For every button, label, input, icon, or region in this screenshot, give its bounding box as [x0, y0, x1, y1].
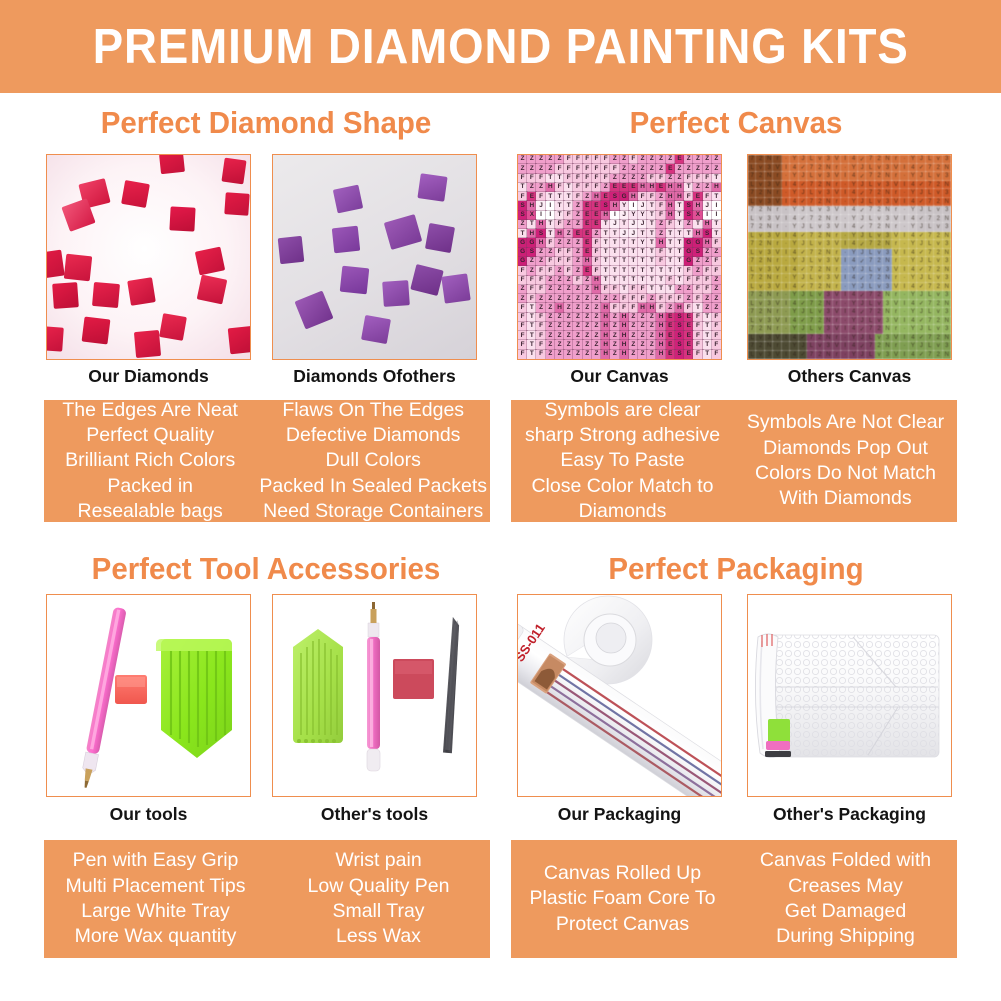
- canvas-cell: Z: [555, 313, 564, 322]
- canvas-cell: T: [620, 220, 629, 229]
- canvas-cell: 7: [748, 342, 756, 351]
- canvas-cell: Y: [849, 351, 857, 360]
- canvas-cell: T: [656, 266, 665, 275]
- canvas-cell: ·: [782, 257, 790, 266]
- canvas-cell: r: [773, 240, 781, 249]
- canvas-cell: Z: [693, 266, 702, 275]
- canvas-cell: F: [564, 164, 573, 173]
- canvas-cell: r: [773, 189, 781, 198]
- canvas-cell: L: [866, 164, 874, 173]
- canvas-cell: J: [917, 206, 925, 215]
- canvas-cell: I: [841, 240, 849, 249]
- canvas-cell: Z: [629, 331, 638, 340]
- canvas-cell: J: [620, 211, 629, 220]
- canvas-cell: 4: [790, 198, 798, 207]
- canvas-cell: 3: [883, 232, 891, 241]
- panel-line: Less Wax: [336, 924, 421, 949]
- canvas-cell: T: [555, 174, 564, 183]
- canvas-cell: 7: [926, 249, 934, 258]
- canvas-cell: T: [620, 276, 629, 285]
- canvas-cell: 7: [807, 215, 815, 224]
- canvas-cell: 3: [824, 172, 832, 181]
- canvas-cell: J: [799, 325, 807, 334]
- canvas-cell: v: [756, 249, 764, 258]
- canvas-cell: J: [917, 189, 925, 198]
- canvas-cell: Y: [849, 198, 857, 207]
- caption-our-diamonds: Our Diamonds: [46, 366, 251, 387]
- canvas-cell: F: [573, 164, 582, 173]
- canvas-cell: ·: [782, 342, 790, 351]
- canvas-cell: L: [926, 257, 934, 266]
- canvas-cell: ·: [900, 189, 908, 198]
- canvas-cell: Z: [546, 276, 555, 285]
- canvas-cell: r: [773, 155, 781, 164]
- canvas-cell: Z: [573, 266, 582, 275]
- canvas-cell: H: [712, 183, 721, 192]
- canvas-cell: F: [610, 164, 619, 173]
- canvas-cell: T: [703, 331, 712, 340]
- canvas-cell: 4: [790, 181, 798, 190]
- canvas-cell: Z: [703, 183, 712, 192]
- canvas-cell: ✓: [799, 334, 807, 343]
- canvas-cell: F: [536, 331, 545, 340]
- canvas-cell: F: [518, 303, 527, 312]
- canvas-cell: 7: [748, 223, 756, 232]
- canvas-cell: F: [601, 285, 610, 294]
- canvas-cell: Z: [564, 313, 573, 322]
- canvas-cell: V: [833, 172, 841, 181]
- canvas-cell: 2: [756, 308, 764, 317]
- canvas-cell: Y: [790, 291, 798, 300]
- canvas-cell: J: [799, 240, 807, 249]
- canvas-cell: H: [666, 201, 675, 210]
- canvas-cell: I: [900, 351, 908, 360]
- red-diamonds-scatter: [47, 155, 250, 359]
- canvas-cell: Y: [909, 257, 917, 266]
- canvas-cell: J: [858, 181, 866, 190]
- canvas-cell: r: [833, 181, 841, 190]
- canvas-cell: T: [703, 350, 712, 359]
- canvas-cell: Z: [703, 257, 712, 266]
- canvas-cell: Z: [684, 220, 693, 229]
- canvas-cell: Y: [790, 172, 798, 181]
- canvas-cell: N: [824, 351, 832, 360]
- canvas-cell: V: [773, 266, 781, 275]
- canvas-cell: Y: [909, 223, 917, 232]
- canvas-cell: Z: [564, 276, 573, 285]
- photo-others-diamonds: [272, 154, 477, 360]
- canvas-cell: Z: [684, 155, 693, 164]
- panel-line: Canvas Rolled Up: [544, 861, 701, 886]
- canvas-cell: 2: [756, 291, 764, 300]
- canvas-cell: Z: [546, 303, 555, 312]
- canvas-cell: ✓: [917, 249, 925, 258]
- canvas-cell: Z: [583, 285, 592, 294]
- canvas-cell: V: [892, 198, 900, 207]
- canvas-cell: Z: [546, 294, 555, 303]
- canvas-cell: F: [583, 155, 592, 164]
- canvas-cell: ✓: [799, 215, 807, 224]
- canvas-cell: Z: [610, 350, 619, 359]
- canvas-cell: I: [900, 334, 908, 343]
- canvas-cell: Z: [536, 164, 545, 173]
- canvas-cell: Z: [703, 303, 712, 312]
- canvas-cell: Z: [536, 303, 545, 312]
- canvas-cell: F: [703, 192, 712, 201]
- canvas-cell: ·: [841, 181, 849, 190]
- canvas-cell: 2: [816, 283, 824, 292]
- canvas-cell: 7: [748, 240, 756, 249]
- canvas-cell: L: [926, 291, 934, 300]
- canvas-cell: Y: [620, 201, 629, 210]
- canvas-cell: H: [638, 303, 647, 312]
- canvas-cell: Z: [555, 155, 564, 164]
- canvas-cell: N: [765, 240, 773, 249]
- canvas-cell: F: [564, 211, 573, 220]
- canvas-cell: S: [703, 229, 712, 238]
- canvas-cell: Z: [712, 155, 721, 164]
- canvas-cell: F: [712, 322, 721, 331]
- canvas-cell: L: [748, 283, 756, 292]
- canvas-cell: 3: [883, 300, 891, 309]
- canvas-cell: H: [629, 192, 638, 201]
- canvas-cell: Y: [849, 215, 857, 224]
- canvas-cell: Z: [518, 164, 527, 173]
- canvas-cell: T: [666, 257, 675, 266]
- canvas-cell: T: [564, 183, 573, 192]
- canvas-cell: F: [573, 155, 582, 164]
- canvas-cell: F: [693, 276, 702, 285]
- canvas-cell: r: [892, 274, 900, 283]
- canvas-cell: S: [684, 211, 693, 220]
- canvas-cell: r: [773, 172, 781, 181]
- canvas-cell: r: [892, 325, 900, 334]
- canvas-cell: r: [892, 308, 900, 317]
- canvas-cell: v: [816, 308, 824, 317]
- panel-line: Packed in: [107, 474, 193, 499]
- canvas-cell: F: [712, 266, 721, 275]
- canvas-cell: r: [773, 206, 781, 215]
- canvas-cell: I: [629, 201, 638, 210]
- canvas-cell: Z: [573, 350, 582, 359]
- canvas-cell: 4: [909, 351, 917, 360]
- canvas-cell: E: [684, 340, 693, 349]
- canvas-cell: Z: [573, 248, 582, 257]
- canvas-cell: 3: [765, 283, 773, 292]
- canvas-cell: I: [900, 249, 908, 258]
- canvas-cell: V: [892, 232, 900, 241]
- canvas-cell: G: [693, 238, 702, 247]
- canvas-cell: ·: [782, 189, 790, 198]
- canvas-cell: 2: [875, 189, 883, 198]
- canvas-cell: I: [782, 198, 790, 207]
- canvas-cell: Z: [693, 155, 702, 164]
- canvas-cell: v: [875, 232, 883, 241]
- canvas-cell: Z: [638, 331, 647, 340]
- canvas-cell: Z: [546, 322, 555, 331]
- canvas-cell: N: [883, 223, 891, 232]
- canvas-cell: I: [546, 201, 555, 210]
- canvas-cell: I: [782, 351, 790, 360]
- canvas-cell: Z: [629, 164, 638, 173]
- canvas-cell: F: [684, 303, 693, 312]
- canvas-cell: 7: [926, 164, 934, 173]
- canvas-cell: ✓: [858, 308, 866, 317]
- canvas-cell: ·: [900, 257, 908, 266]
- canvas-cell: Z: [656, 155, 665, 164]
- canvas-cell: F: [629, 285, 638, 294]
- canvas-cell: T: [629, 257, 638, 266]
- canvas-cell: L: [807, 325, 815, 334]
- canvas-cell: ✓: [858, 240, 866, 249]
- canvas-cell: F: [573, 174, 582, 183]
- canvas-cell: ·: [841, 334, 849, 343]
- canvas-cell: F: [555, 248, 564, 257]
- canvas-cell: I: [900, 215, 908, 224]
- canvas-cell: N: [943, 249, 951, 258]
- canvas-cell: 4: [790, 283, 798, 292]
- canvas-cell: Z: [638, 340, 647, 349]
- canvas-cell: L: [807, 257, 815, 266]
- canvas-cell: Z: [629, 313, 638, 322]
- canvas-cell: E: [656, 183, 665, 192]
- canvas-cell: ·: [841, 317, 849, 326]
- canvas-cell: Z: [546, 248, 555, 257]
- canvas-cell: ·: [782, 325, 790, 334]
- canvas-cell: Z: [647, 340, 656, 349]
- canvas-cell: Z: [675, 164, 684, 173]
- canvas-cell: T: [546, 229, 555, 238]
- canvas-cell: ·: [841, 300, 849, 309]
- canvas-cell: ·: [900, 325, 908, 334]
- canvas-cell: 7: [748, 308, 756, 317]
- canvas-cell: r: [892, 257, 900, 266]
- canvas-cell: Y: [849, 232, 857, 241]
- canvas-cell: J: [638, 220, 647, 229]
- canvas-cell: v: [816, 274, 824, 283]
- canvas-cell: Z: [712, 303, 721, 312]
- canvas-cell: Z: [546, 313, 555, 322]
- canvas-cell: 3: [943, 206, 951, 215]
- canvas-cell: J: [917, 257, 925, 266]
- canvas-cell: J: [858, 351, 866, 360]
- canvas-cell: r: [892, 172, 900, 181]
- canvas-cell: 3: [883, 164, 891, 173]
- canvas-cell: N: [824, 266, 832, 275]
- canvas-cell: 7: [926, 334, 934, 343]
- canvas-cell: T: [675, 248, 684, 257]
- canvas-cell: v: [875, 198, 883, 207]
- photo-our-tools: [46, 594, 251, 797]
- canvas-cell: 4: [790, 351, 798, 360]
- canvas-cell: T: [610, 238, 619, 247]
- canvas-cell: 3: [824, 240, 832, 249]
- canvas-cell: H: [647, 183, 656, 192]
- canvas-cell: 2: [756, 342, 764, 351]
- canvas-cell: H: [656, 340, 665, 349]
- canvas-cell: 2: [816, 266, 824, 275]
- canvas-cell: F: [518, 322, 527, 331]
- canvas-cell: F: [536, 350, 545, 359]
- canvas-cell: Y: [849, 317, 857, 326]
- canvas-cell: N: [943, 283, 951, 292]
- pen-icon: [47, 595, 250, 796]
- canvas-cell: 4: [849, 291, 857, 300]
- canvas-cell: F: [592, 174, 601, 183]
- canvas-cell: E: [693, 192, 702, 201]
- canvas-cell: 2: [934, 317, 942, 326]
- canvas-cell: Z: [573, 238, 582, 247]
- canvas-cell: Y: [849, 334, 857, 343]
- purple-diamonds-scatter: [273, 155, 476, 359]
- canvas-cell: F: [647, 192, 656, 201]
- canvas-cell: ✓: [799, 317, 807, 326]
- canvas-cell: Z: [592, 350, 601, 359]
- canvas-cell: L: [926, 342, 934, 351]
- canvas-cell: H: [620, 313, 629, 322]
- canvas-cell: I: [712, 201, 721, 210]
- canvas-cell: 7: [926, 300, 934, 309]
- canvas-cell: N: [824, 164, 832, 173]
- canvas-cell: F: [610, 285, 619, 294]
- canvas-cell: 4: [849, 240, 857, 249]
- canvas-cell: ✓: [858, 342, 866, 351]
- canvas-cell: 7: [807, 198, 815, 207]
- panel-line: Need Storage Containers: [263, 499, 483, 524]
- canvas-cell: Y: [790, 325, 798, 334]
- canvas-cell: 7: [926, 232, 934, 241]
- canvas-cell: Z: [583, 340, 592, 349]
- canvas-cell: 3: [943, 325, 951, 334]
- canvas-cell: 7: [866, 155, 874, 164]
- canvas-cell: H: [592, 276, 601, 285]
- canvas-cell: T: [666, 238, 675, 247]
- canvas-cell: E: [583, 201, 592, 210]
- canvas-cell: 2: [816, 300, 824, 309]
- canvas-cell: Y: [638, 238, 647, 247]
- canvas-cell: T: [703, 340, 712, 349]
- canvas-cell: I: [900, 283, 908, 292]
- canvas-cell: 4: [909, 215, 917, 224]
- canvas-cell: N: [765, 274, 773, 283]
- canvas-cell: 7: [748, 172, 756, 181]
- canvas-cell: F: [693, 294, 702, 303]
- canvas-cell: Z: [564, 229, 573, 238]
- canvas-cell: F: [592, 164, 601, 173]
- canvas-cell: T: [684, 183, 693, 192]
- canvas-cell: T: [638, 257, 647, 266]
- panel-tools-ours: Pen with Easy Grip Multi Placement Tips …: [44, 840, 267, 958]
- caption-others-diamonds: Diamonds Ofothers: [272, 366, 477, 387]
- canvas-cell: N: [765, 291, 773, 300]
- canvas-cell: L: [748, 215, 756, 224]
- canvas-cell: L: [926, 223, 934, 232]
- canvas-cell: T: [647, 201, 656, 210]
- canvas-cell: 7: [866, 308, 874, 317]
- canvas-cell: T: [666, 248, 675, 257]
- canvas-cell: L: [866, 181, 874, 190]
- canvas-cell: J: [858, 266, 866, 275]
- canvas-cell: Z: [592, 229, 601, 238]
- canvas-cell: J: [799, 342, 807, 351]
- canvas-cell: 3: [943, 223, 951, 232]
- canvas-cell: G: [684, 257, 693, 266]
- canvas-cell: 7: [866, 240, 874, 249]
- canvas-cell: V: [773, 283, 781, 292]
- canvas-cell: ✓: [917, 232, 925, 241]
- canvas-cell: F: [656, 294, 665, 303]
- canvas-cell: V: [892, 334, 900, 343]
- canvas-cell: F: [610, 303, 619, 312]
- canvas-cell: v: [934, 342, 942, 351]
- canvas-cell: Z: [564, 340, 573, 349]
- canvas-cell: 4: [790, 215, 798, 224]
- canvas-cell: N: [883, 257, 891, 266]
- canvas-cell: 7: [866, 325, 874, 334]
- canvas-cell: Z: [527, 155, 536, 164]
- canvas-cell: F: [555, 183, 564, 192]
- canvas-cell: 2: [816, 317, 824, 326]
- canvas-cell: S: [527, 248, 536, 257]
- canvas-cell: F: [684, 174, 693, 183]
- canvas-cell: N: [765, 308, 773, 317]
- panel-line: sharp Strong adhesive: [525, 423, 720, 448]
- canvas-cell: E: [583, 229, 592, 238]
- canvas-cell: ✓: [858, 325, 866, 334]
- canvas-cell: Z: [518, 155, 527, 164]
- canvas-cell: v: [756, 232, 764, 241]
- canvas-cell: T: [620, 248, 629, 257]
- canvas-cell: ✓: [917, 351, 925, 360]
- canvas-cell: J: [799, 274, 807, 283]
- canvas-cell: J: [799, 291, 807, 300]
- canvas-cell: F: [712, 340, 721, 349]
- canvas-cell: E: [666, 331, 675, 340]
- canvas-cell: H: [536, 238, 545, 247]
- canvas-cell: Z: [610, 174, 619, 183]
- canvas-cell: T: [703, 313, 712, 322]
- canvas-cell: 2: [875, 223, 883, 232]
- photo-others-canvas: 72Nr·YJLv3VI4✓72Nr·YJLv3Lv3VI4✓72Nr·YJLv…: [747, 154, 952, 360]
- canvas-cell: v: [875, 351, 883, 360]
- canvas-cell: v: [816, 206, 824, 215]
- canvas-cell: V: [773, 215, 781, 224]
- canvas-cell: H: [656, 331, 665, 340]
- canvas-cell: 2: [934, 334, 942, 343]
- canvas-cell: I: [536, 211, 545, 220]
- canvas-cell: Z: [564, 238, 573, 247]
- canvas-cell: r: [773, 308, 781, 317]
- canvas-cell: L: [866, 283, 874, 292]
- canvas-cell: I: [782, 300, 790, 309]
- canvas-cell: Z: [573, 220, 582, 229]
- canvas-cell: S: [684, 201, 693, 210]
- canvas-cell: 4: [849, 257, 857, 266]
- canvas-cell: T: [666, 285, 675, 294]
- canvas-cell: Z: [518, 285, 527, 294]
- canvas-cell: 4: [849, 342, 857, 351]
- canvas-cell: F: [712, 331, 721, 340]
- tube-packaging-photo: SS-011: [518, 595, 721, 796]
- canvas-cell: ·: [900, 308, 908, 317]
- canvas-cell: 7: [807, 300, 815, 309]
- canvas-cell: 7: [866, 206, 874, 215]
- canvas-cell: r: [892, 155, 900, 164]
- canvas-cell: I: [841, 325, 849, 334]
- canvas-cell: T: [518, 229, 527, 238]
- canvas-cell: Z: [546, 350, 555, 359]
- canvas-cell: J: [917, 308, 925, 317]
